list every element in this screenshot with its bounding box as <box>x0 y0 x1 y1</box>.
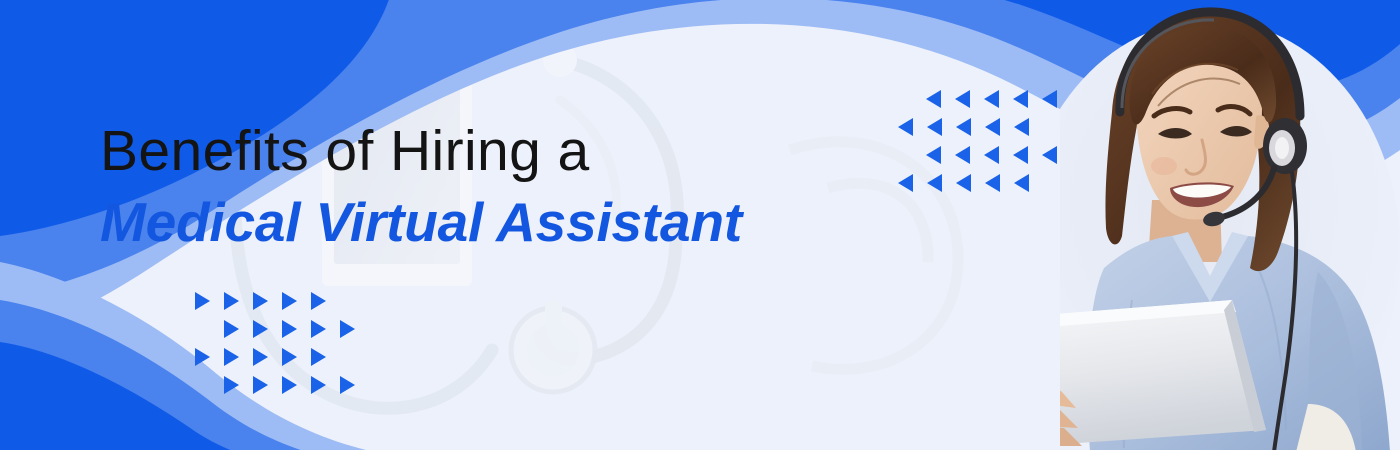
triangle-right-icon <box>224 376 239 394</box>
triangle-left-icon <box>926 146 941 164</box>
triangle-row <box>926 90 1057 108</box>
headset-earcup <box>1263 118 1307 174</box>
triangle-right-icon <box>282 348 297 366</box>
triangle-left-icon <box>985 118 1000 136</box>
triangle-left-icon <box>956 118 971 136</box>
triangle-right-icon <box>282 320 297 338</box>
triangle-left-icon <box>955 90 970 108</box>
triangle-right-icon <box>195 292 210 310</box>
triangle-right-icon <box>282 376 297 394</box>
triangle-right-icon <box>311 376 326 394</box>
triangle-right-icon <box>224 292 239 310</box>
triangle-right-icon <box>311 292 326 310</box>
triangle-right-icon <box>253 376 268 394</box>
triangle-left-icon <box>1014 174 1029 192</box>
triangle-left-icon <box>898 174 913 192</box>
headline-line-2: Medical Virtual Assistant <box>100 192 860 254</box>
triangle-right-icon <box>311 320 326 338</box>
laptop <box>1060 300 1266 450</box>
triangle-left-icon <box>1014 118 1029 136</box>
triangle-row <box>195 348 355 366</box>
triangle-left-icon <box>1013 90 1028 108</box>
triangle-right-icon <box>253 292 268 310</box>
triangle-right-icon <box>253 348 268 366</box>
triangle-row <box>898 118 1057 136</box>
triangle-row <box>224 320 355 338</box>
triangle-cluster-right <box>898 90 1057 192</box>
triangle-left-icon <box>1042 90 1057 108</box>
triangle-left-icon <box>927 174 942 192</box>
triangle-left-icon <box>984 146 999 164</box>
triangle-row <box>224 376 355 394</box>
triangle-left-icon <box>898 118 913 136</box>
triangle-left-icon <box>1013 146 1028 164</box>
triangle-right-icon <box>311 348 326 366</box>
triangle-right-icon <box>340 376 355 394</box>
triangle-left-icon <box>926 90 941 108</box>
triangle-right-icon <box>224 320 239 338</box>
triangle-right-icon <box>224 348 239 366</box>
triangle-row <box>195 292 355 310</box>
triangle-right-icon <box>340 320 355 338</box>
triangle-left-icon <box>955 146 970 164</box>
headline-line-1: Benefits of Hiring a <box>100 120 860 184</box>
triangle-cluster-left <box>195 292 355 394</box>
triangle-right-icon <box>282 292 297 310</box>
triangle-row <box>898 174 1057 192</box>
assistant-photo <box>1060 0 1400 450</box>
banner: Benefits of Hiring a Medical Virtual Ass… <box>0 0 1400 450</box>
triangle-left-icon <box>927 118 942 136</box>
triangle-row <box>926 146 1057 164</box>
triangle-right-icon <box>195 348 210 366</box>
banner-headline: Benefits of Hiring a Medical Virtual Ass… <box>100 120 860 253</box>
triangle-left-icon <box>984 90 999 108</box>
triangle-left-icon <box>1042 146 1057 164</box>
triangle-right-icon <box>253 320 268 338</box>
triangle-left-icon <box>956 174 971 192</box>
triangle-left-icon <box>985 174 1000 192</box>
